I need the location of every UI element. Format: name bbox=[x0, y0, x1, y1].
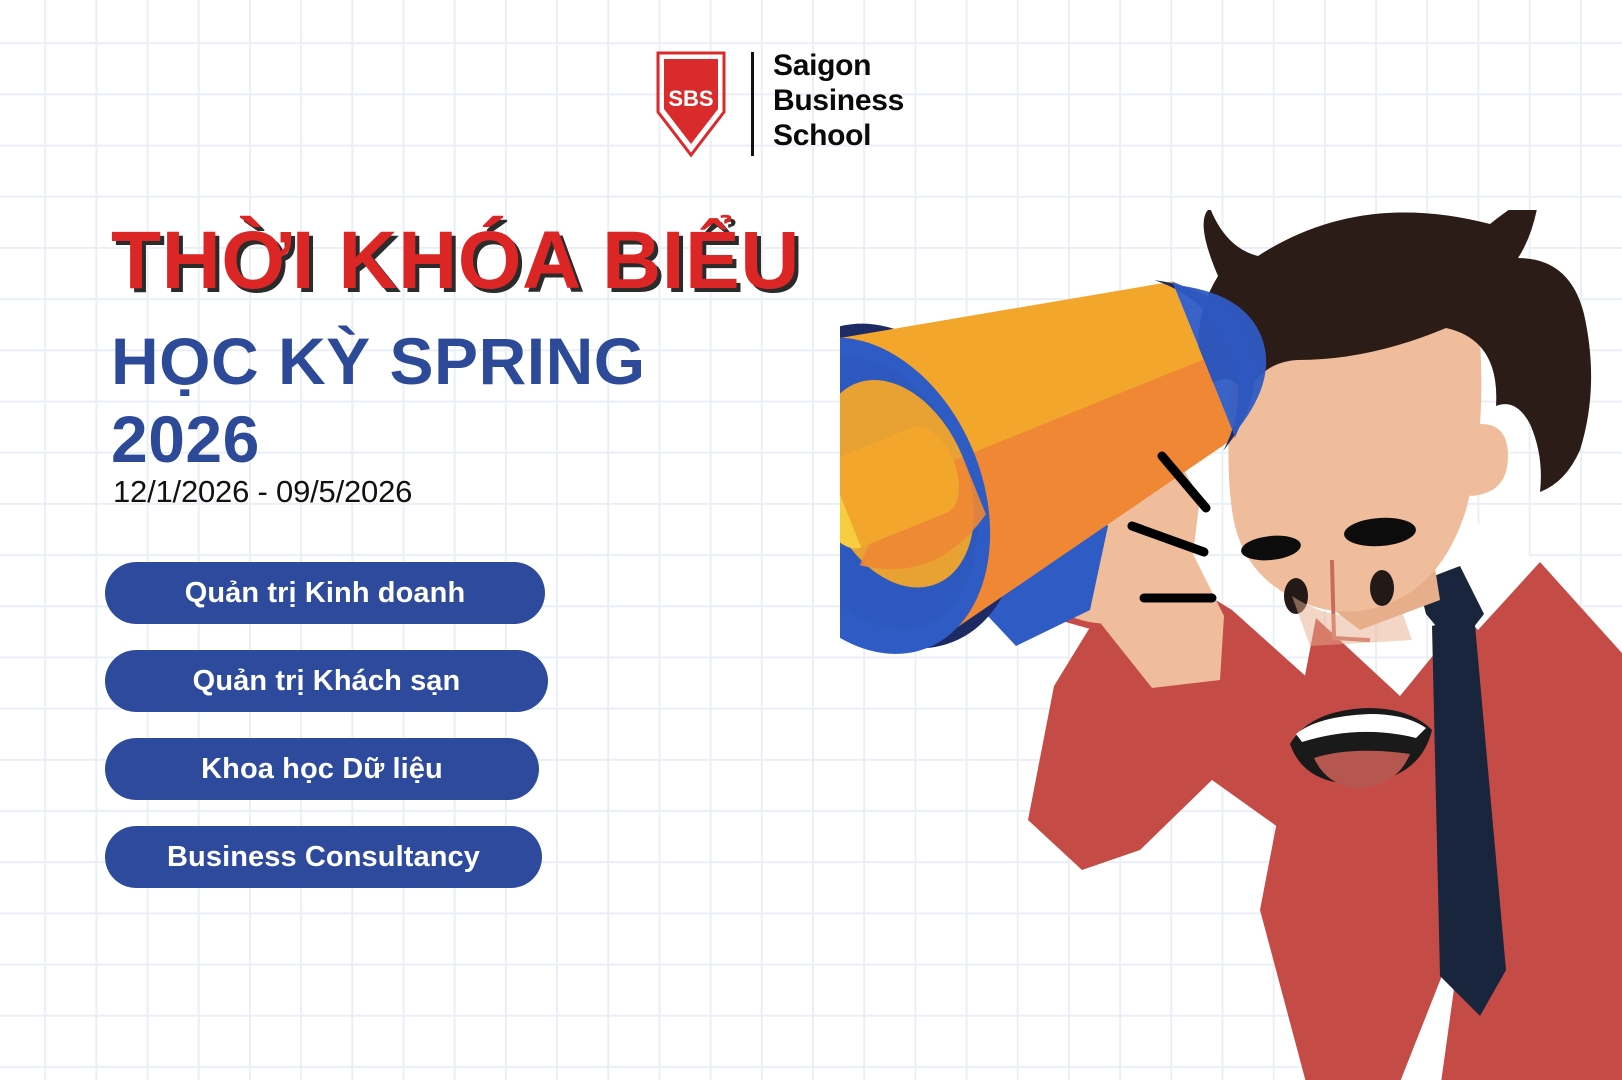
page-title-primary: THỜI KHÓA BIỂU bbox=[111, 217, 800, 305]
program-pill-business-administration[interactable]: Quản trị Kinh doanh bbox=[105, 562, 545, 624]
page-title-secondary: HỌC KỲ SPRING 2026 bbox=[111, 322, 751, 478]
poster-canvas: SBS Saigon Business School THỜI KHÓA BIỂ… bbox=[0, 0, 1622, 1080]
shield-icon: SBS bbox=[655, 50, 727, 158]
eye-right bbox=[1370, 570, 1394, 606]
ear bbox=[1466, 424, 1508, 496]
man-with-megaphone-illustration bbox=[840, 210, 1622, 1080]
program-pill-hotel-management[interactable]: Quản trị Khách sạn bbox=[105, 650, 548, 712]
date-range-text: 12/1/2026 - 09/5/2026 bbox=[113, 474, 412, 510]
program-pill-data-science[interactable]: Khoa học Dữ liệu bbox=[105, 738, 539, 800]
program-list: Quản trị Kinh doanh Quản trị Khách sạn K… bbox=[105, 562, 548, 914]
shield-label: SBS bbox=[668, 86, 713, 111]
sbs-logo: SBS Saigon Business School bbox=[655, 50, 895, 162]
logo-wordmark: Saigon Business School bbox=[773, 48, 904, 153]
program-pill-business-consultancy[interactable]: Business Consultancy bbox=[105, 826, 542, 888]
logo-divider bbox=[751, 52, 754, 156]
